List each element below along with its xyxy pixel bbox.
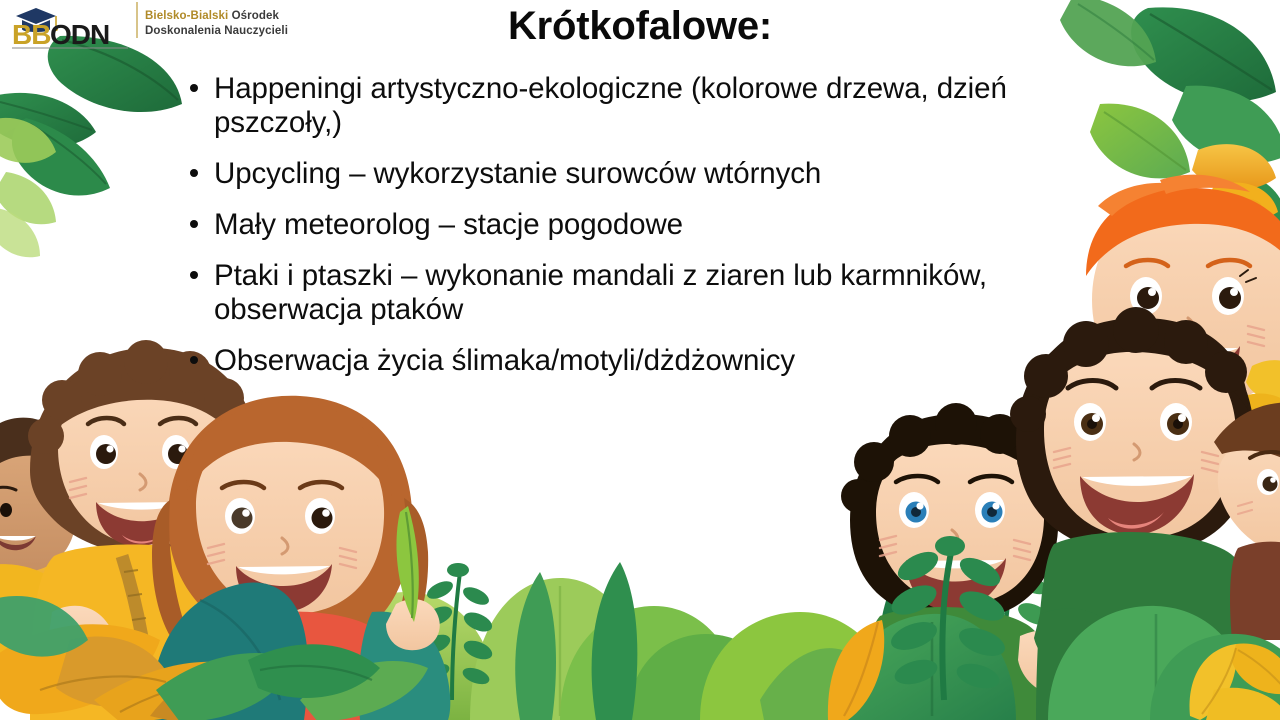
fern-sprig-mid-left [419,563,495,700]
fern-sprig-mid-right [967,550,1053,700]
palm-leaf-center [887,536,1009,700]
foliage-bottom-center [300,550,1053,720]
child-boy-blue-eyes [841,403,1088,720]
flower-left-yellow [0,536,52,628]
leaf-cluster-top-left [0,36,182,257]
svg-text:BB: BB [12,19,50,50]
logo-mark: BB ODN [10,2,130,50]
logo-tagline-dark: Ośrodek [232,10,279,22]
bullet-list: Happeningi artystyczno-ekologiczne (kolo… [186,72,1126,395]
child-boy-yellow-shirt [28,340,276,720]
bullet-text: Obserwacja życia ślimaka/motyli/dżdżowni… [214,344,795,377]
logo-tagline: Bielsko-Bialski Ośrodek Doskonalenia Nau… [136,2,288,38]
logo-tagline-line2: Doskonalenia Nauczycieli [145,24,288,39]
slide-canvas: BB ODN Bielsko-Bialski Ośrodek Doskonale… [0,0,1280,720]
fern-left [71,465,177,690]
bullet-item: Obserwacja życia ślimaka/motyli/dżdżowni… [186,344,1126,378]
logo-tagline-gold: Bielsko-Bialski [145,10,228,22]
bullet-text: Upcycling – wykorzystanie surowców wtórn… [214,157,821,190]
bullet-marker-icon [190,356,198,364]
bullet-marker-icon [190,169,198,177]
svg-text:ODN: ODN [50,19,109,50]
foliage-over-bottom-right [828,536,1280,720]
bbodn-logo: BB ODN Bielsko-Bialski Ośrodek Doskonale… [10,2,310,52]
bullet-item: Happeningi artystyczno-ekologiczne (kolo… [186,72,1126,140]
child-partial-right [1214,403,1280,640]
bullet-marker-icon [190,220,198,228]
bullet-marker-icon [190,84,198,92]
bullet-item: Mały meteorolog – stacje pogodowe [186,208,1126,242]
bullet-text: Ptaki i ptaszki – wykonanie mandali z zi… [214,259,987,326]
bullet-item: Ptaki i ptaszki – wykonanie mandali z zi… [186,259,1126,327]
bullet-text: Happeningi artystyczno-ekologiczne (kolo… [214,72,1007,139]
flower-right-yellow [1240,360,1280,461]
bullet-marker-icon [190,271,198,279]
flower-top-right-yellow [1150,144,1280,268]
bullet-text: Mały meteorolog – stacje pogodowe [214,208,683,241]
child-partial-left [0,418,76,660]
foliage-over-bottom-left [0,596,428,720]
child-girl-teal-jacket [150,396,450,720]
bullet-item: Upcycling – wykorzystanie surowców wtórn… [186,157,1126,191]
